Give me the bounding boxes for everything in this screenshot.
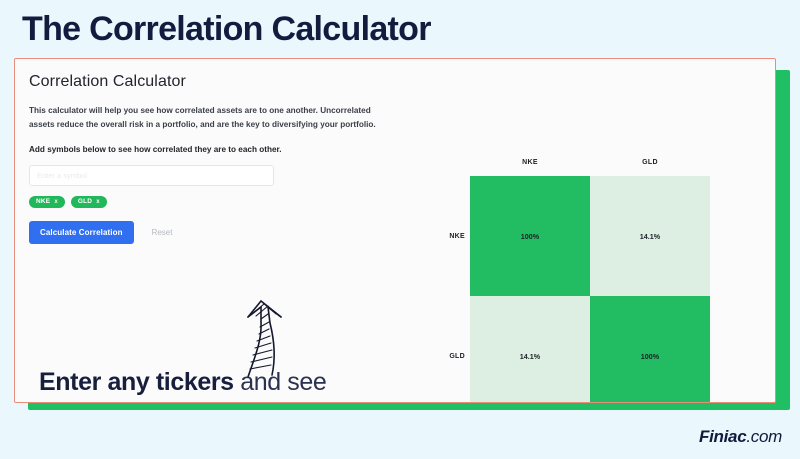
correlation-matrix-panel: NKE GLD NKE GLD 100% 14.1% 14.1% 100% Th… — [418, 95, 763, 395]
remove-icon[interactable]: x — [96, 199, 100, 205]
symbol-search-input[interactable] — [29, 165, 274, 186]
matrix-cell-nke-gld: 14.1% — [590, 176, 710, 296]
promo-bold-text: Enter any tickers — [39, 368, 234, 396]
matrix-row-header-gld: GLD — [438, 296, 470, 403]
matrix-column-headers: NKE GLD — [470, 159, 710, 166]
card-heading: Correlation Calculator — [29, 73, 429, 91]
matrix-cell-gld-nke: 14.1% — [470, 296, 590, 403]
symbol-tag-gld[interactable]: GLD x — [71, 196, 107, 209]
screenshot-root: The Correlation Calculator Correlation C… — [0, 0, 800, 459]
correlation-matrix: NKE GLD NKE GLD 100% 14.1% 14.1% 100% — [432, 95, 722, 395]
matrix-row-header-nke: NKE — [438, 176, 470, 296]
matrix-cells: 100% 14.1% 14.1% 100% — [470, 176, 710, 403]
symbol-tag-label: NKE — [36, 199, 50, 206]
symbol-tag-label: GLD — [78, 199, 92, 206]
matrix-row-headers: NKE GLD — [438, 176, 470, 403]
brand-name: Finiac — [699, 427, 746, 446]
matrix-col-header-nke: NKE — [470, 159, 590, 166]
matrix-cell-gld-gld: 100% — [590, 296, 710, 403]
matrix-col-header-gld: GLD — [590, 159, 710, 166]
page-title: The Correlation Calculator — [22, 10, 431, 49]
calculator-left-panel: Correlation Calculator This calculator w… — [29, 73, 429, 244]
action-button-row: Calculate Correlation Reset — [29, 221, 429, 244]
card-subheading: Add symbols below to see how correlated … — [29, 145, 429, 154]
card-description: This calculator will help you see how co… — [29, 104, 381, 132]
remove-icon[interactable]: x — [54, 199, 58, 205]
reset-button[interactable]: Reset — [146, 224, 179, 241]
symbol-tag-list: NKE x GLD x — [29, 196, 429, 209]
promo-headline: Enter any tickers and see correlation in… — [39, 365, 439, 403]
brand-tld: .com — [746, 427, 782, 446]
symbol-tag-nke[interactable]: NKE x — [29, 196, 65, 209]
matrix-cell-nke-nke: 100% — [470, 176, 590, 296]
finiac-logo: Finiac.com — [699, 427, 782, 447]
calculate-correlation-button[interactable]: Calculate Correlation — [29, 221, 134, 244]
correlation-calculator-card: Correlation Calculator This calculator w… — [14, 58, 776, 403]
